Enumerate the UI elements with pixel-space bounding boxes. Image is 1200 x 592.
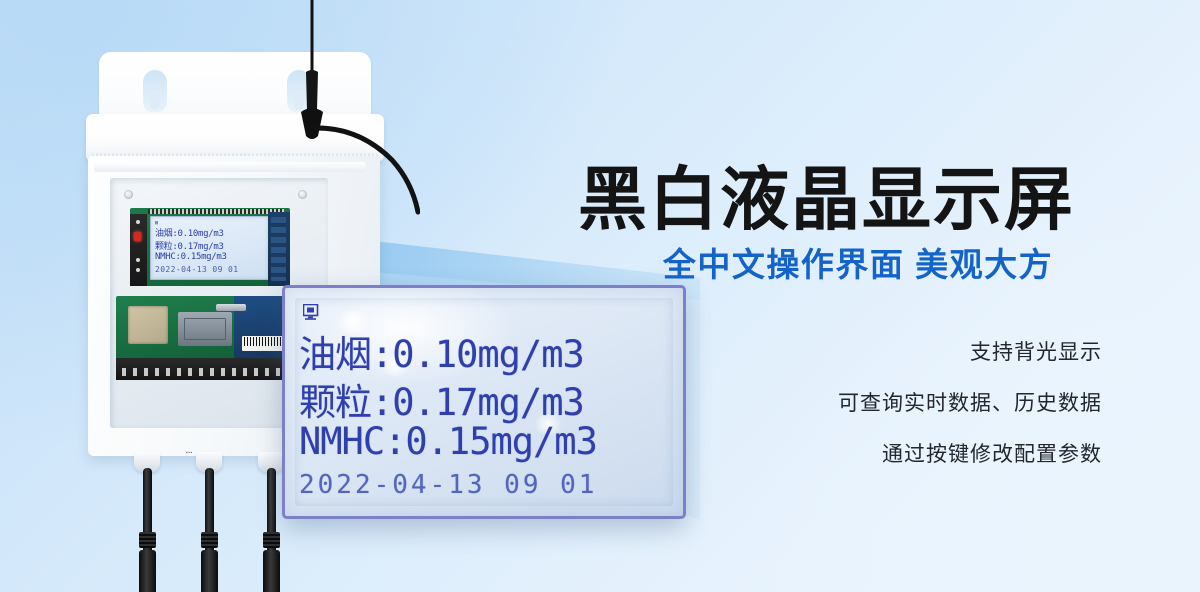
sim-card-slot: [178, 312, 232, 346]
feature-list: 支持背光显示 可查询实时数据、历史数据 通过按键修改配置参数: [542, 342, 1102, 465]
controller-board: ▨ 油烟:0.10mg/m3 颗粒:0.17mg/m3 NMHC:0.15mg/…: [130, 208, 290, 286]
power-led-icon: [134, 232, 141, 241]
product-banner: ▨ 油烟:0.10mg/m3 颗粒:0.17mg/m3 NMHC:0.15mg/…: [0, 0, 1200, 592]
antenna-connector: [216, 304, 246, 311]
io-pin: [136, 268, 140, 272]
lcd-small-line-2: 颗粒:0.17mg/m3: [155, 239, 224, 252]
rf-shield-module: [128, 306, 168, 344]
io-pin: [136, 258, 140, 262]
feature-item-3: 通过按键修改配置参数: [542, 444, 1102, 465]
terminal-block: [116, 358, 288, 380]
page-title: 黑白液晶显示屏: [578, 164, 1138, 236]
lcd-small-line-1: 油烟:0.10mg/m3: [155, 226, 224, 239]
cable-connector-2: [201, 550, 218, 592]
lcd-small-timestamp: 2022-04-13 09 01: [155, 265, 238, 274]
main-pcb: [116, 296, 288, 380]
feature-item-2: 可查询实时数据、历史数据: [542, 393, 1102, 414]
mount-keyhole-left: [143, 70, 167, 112]
page-subtitle: 全中文操作界面 美观大方: [578, 238, 1138, 286]
cable-connector-3: [263, 550, 280, 592]
screw-left: [124, 190, 133, 199]
lcd-timestamp: 2022-04-13 09 01: [299, 470, 597, 500]
device-lcd-small: ▨ 油烟:0.10mg/m3 颗粒:0.17mg/m3 NMHC:0.15mg/…: [150, 216, 269, 280]
lcd-signal-icon: [303, 304, 322, 320]
lcd-small-line-3: NMHC:0.15mg/m3: [155, 252, 227, 262]
io-strip: [130, 214, 147, 286]
cable-gland-label: ▪▪▪: [186, 450, 193, 456]
relay-module: [268, 212, 290, 286]
feature-item-1: 支持背光显示: [542, 342, 1102, 363]
io-pin: [136, 220, 140, 224]
cable-connector-1: [139, 550, 156, 592]
antenna-assembly: [300, 0, 420, 300]
pin-header: [148, 209, 284, 214]
